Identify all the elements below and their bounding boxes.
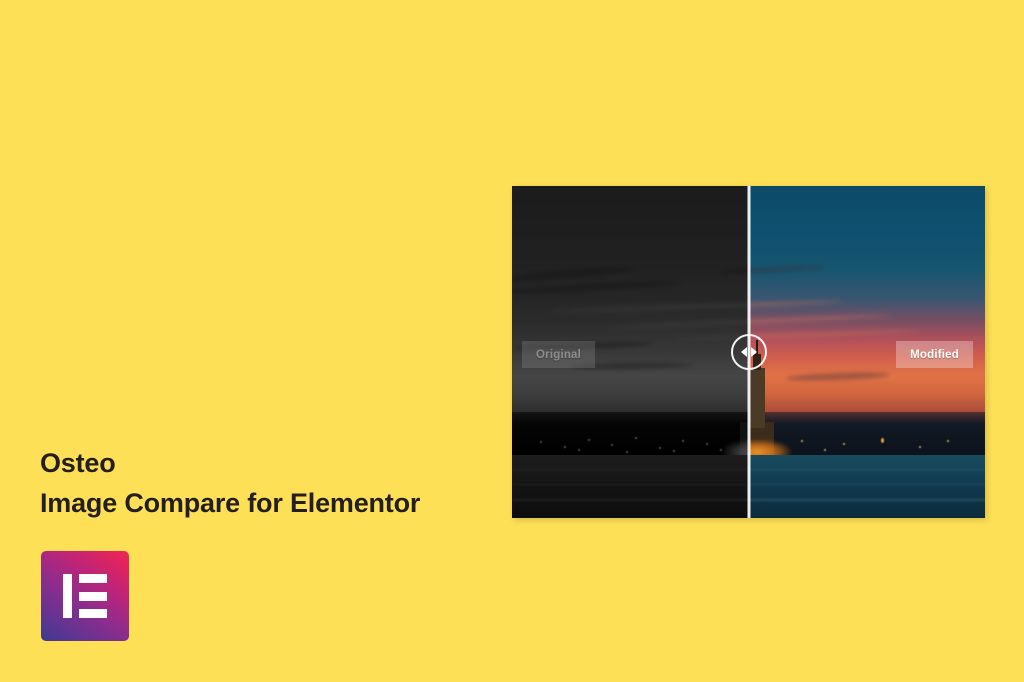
page-title: Osteo Image Compare for Elementor [40, 443, 510, 523]
original-label-badge: Original [522, 341, 595, 368]
tower-body [749, 368, 765, 428]
page-title-line-2: Image Compare for Elementor [40, 483, 510, 523]
elementor-mark-bar-top [79, 574, 108, 583]
modified-label-badge: Modified [896, 341, 973, 368]
elementor-mark-bar-bottom [79, 609, 108, 618]
elementor-mark-vertical-bar [63, 574, 72, 618]
elementor-logo-square [41, 551, 129, 641]
elementor-e-mark-icon [63, 574, 107, 618]
compare-slider-handle[interactable] [731, 334, 767, 370]
page-title-line-1: Osteo [40, 443, 510, 483]
arrow-left-icon [741, 347, 747, 357]
image-compare-widget[interactable]: Modified [512, 186, 985, 518]
elementor-mark-horizontal-bars [79, 574, 108, 618]
elementor-mark-bar-middle [79, 592, 108, 601]
arrow-right-icon [751, 347, 757, 357]
elementor-logo [41, 551, 129, 641]
